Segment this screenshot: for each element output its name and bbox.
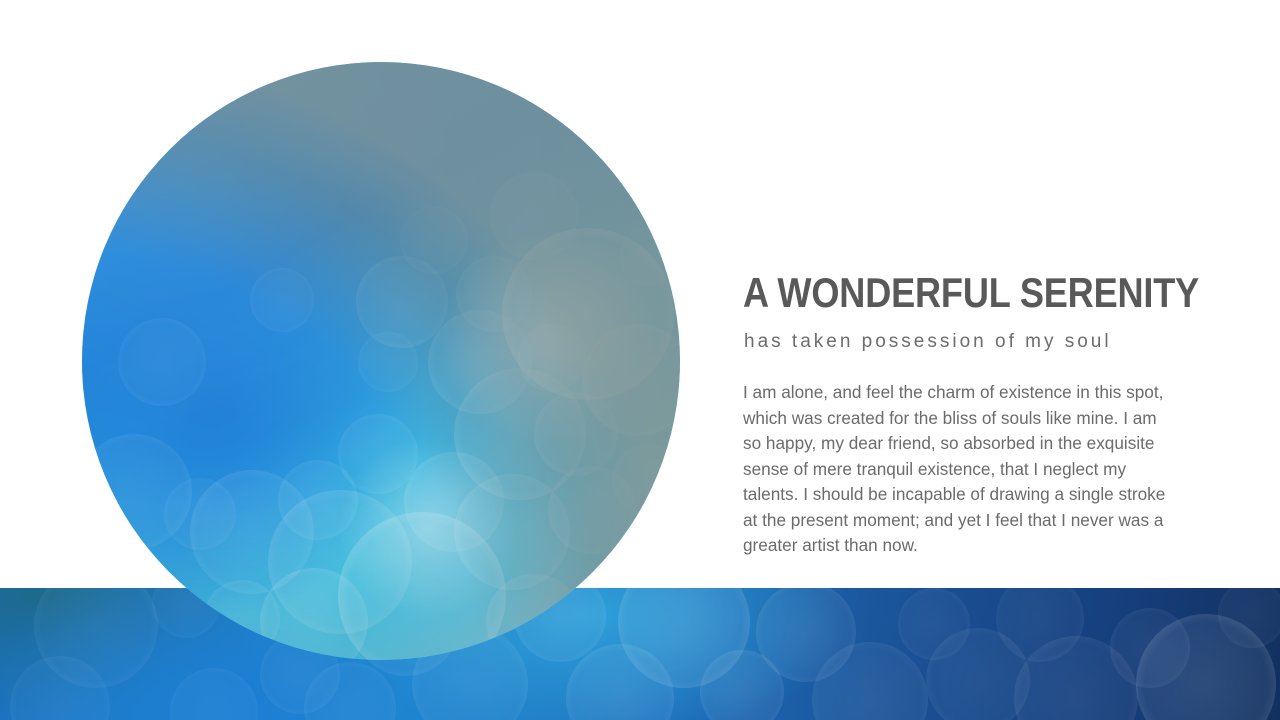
- bokeh-circle: [1218, 588, 1280, 648]
- bokeh-circle: [756, 588, 856, 682]
- bokeh-circle: [304, 662, 396, 720]
- bokeh-circle: [10, 656, 110, 720]
- slide-canvas: A WONDERFUL SERENITY has taken possessio…: [0, 0, 1280, 720]
- bokeh-sphere-graphic: [82, 62, 680, 660]
- body-paragraph: I am alone, and feel the charm of existe…: [743, 380, 1179, 559]
- bokeh-circle: [926, 628, 1030, 720]
- bokeh-circle: [1136, 614, 1276, 720]
- bokeh-circle: [170, 668, 258, 720]
- bokeh-circle: [996, 588, 1084, 662]
- text-column: A WONDERFUL SERENITY has taken possessio…: [743, 270, 1183, 559]
- page-title: A WONDERFUL SERENITY: [743, 270, 1121, 316]
- bokeh-circle: [1014, 636, 1138, 720]
- bokeh-circle: [812, 642, 928, 720]
- sphere-rim-highlight: [82, 62, 680, 660]
- bokeh-circle: [1110, 608, 1190, 688]
- page-subtitle: has taken possession of my soul: [744, 330, 1183, 354]
- bokeh-circle: [898, 588, 970, 660]
- bokeh-circle: [700, 650, 784, 720]
